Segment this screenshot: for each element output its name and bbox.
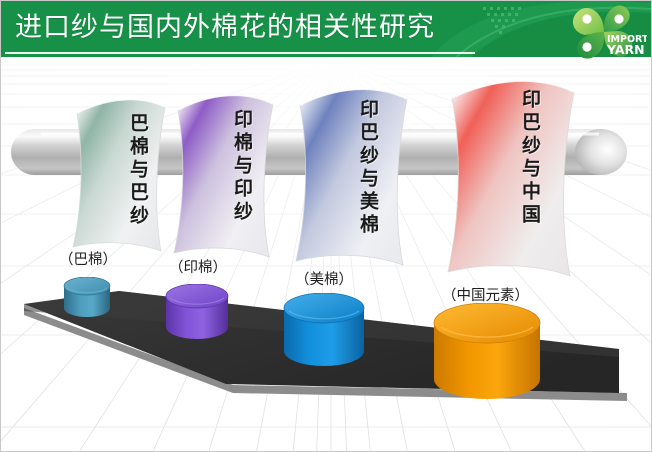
page-title: 进口纱与国内外棉花的相关性研究 (15, 5, 435, 51)
cylinder-3 (281, 293, 367, 375)
logo-text-line2: YARN (606, 42, 645, 57)
caption-3: （美棉） (295, 268, 353, 289)
card-4[interactable]: 印巴纱与中国 (423, 79, 583, 285)
cylinder-4 (431, 303, 543, 409)
card-4-text: 印巴纱与中国 (519, 89, 539, 265)
card-2-text: 印棉与印纱 (231, 109, 251, 245)
caption-2: （印棉） (169, 256, 227, 277)
slide-header-bar: 进口纱与国内外棉花的相关性研究 (1, 1, 651, 57)
card-2[interactable]: 印棉与印纱 (153, 93, 281, 265)
slide-canvas: 进口纱与国内外棉花的相关性研究 (0, 0, 652, 452)
caption-1: （巴棉） (59, 248, 117, 269)
imported-yarn-logo: IMPORTED YARN (561, 2, 647, 64)
card-3-text: 印巴纱与美棉 (357, 99, 377, 255)
title-underline (5, 52, 475, 54)
cylinder-2 (163, 284, 231, 346)
card-3[interactable]: 印巴纱与美棉 (273, 87, 415, 273)
cylinder-1 (61, 277, 113, 323)
caption-4: （中国元素） (442, 284, 529, 305)
card-1-text: 巴棉与巴纱 (127, 113, 147, 241)
